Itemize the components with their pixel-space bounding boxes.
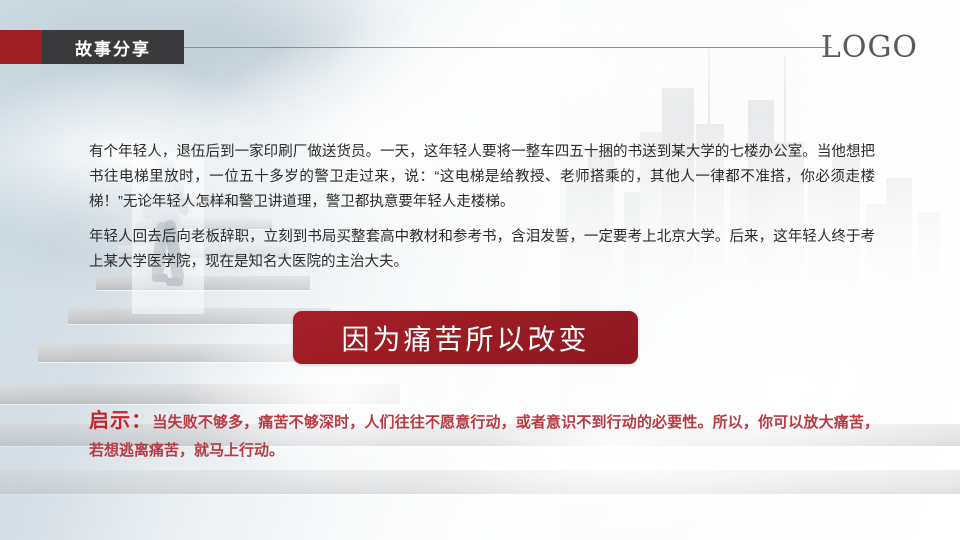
highlight-banner-text: 因为痛苦所以改变 — [341, 318, 589, 358]
insight-block: 启示：当失败不够多，痛苦不够深时，人们往往不愿意行动，或者意识不到行动的必要性。… — [89, 406, 879, 465]
header-accent-block — [0, 30, 42, 64]
slide-canvas: 故事分享 LOGO 有个年轻人，退伍后到一家印刷厂做送货员。一天，这年轻人要将一… — [0, 0, 960, 540]
insight-label: 启示： — [89, 408, 152, 432]
story-paragraph: 年轻人回去后向老板辞职，立刻到书局买整套高中教材和参考书，含泪发誓，一定要考上北… — [89, 225, 875, 275]
story-paragraph: 有个年轻人，退伍后到一家印刷厂做送货员。一天，这年轻人要将一整车四五十捆的书送到… — [89, 140, 875, 215]
page-title: 故事分享 — [42, 30, 184, 64]
header-divider — [184, 47, 832, 48]
logo: LOGO — [821, 30, 918, 64]
highlight-banner: 因为痛苦所以改变 — [293, 311, 638, 364]
insight-text: 当失败不够多，痛苦不够深时，人们往往不愿意行动，或者意识不到行动的必要性。所以，… — [89, 414, 879, 459]
story-text: 有个年轻人，退伍后到一家印刷厂做送货员。一天，这年轻人要将一整车四五十捆的书送到… — [89, 140, 875, 285]
